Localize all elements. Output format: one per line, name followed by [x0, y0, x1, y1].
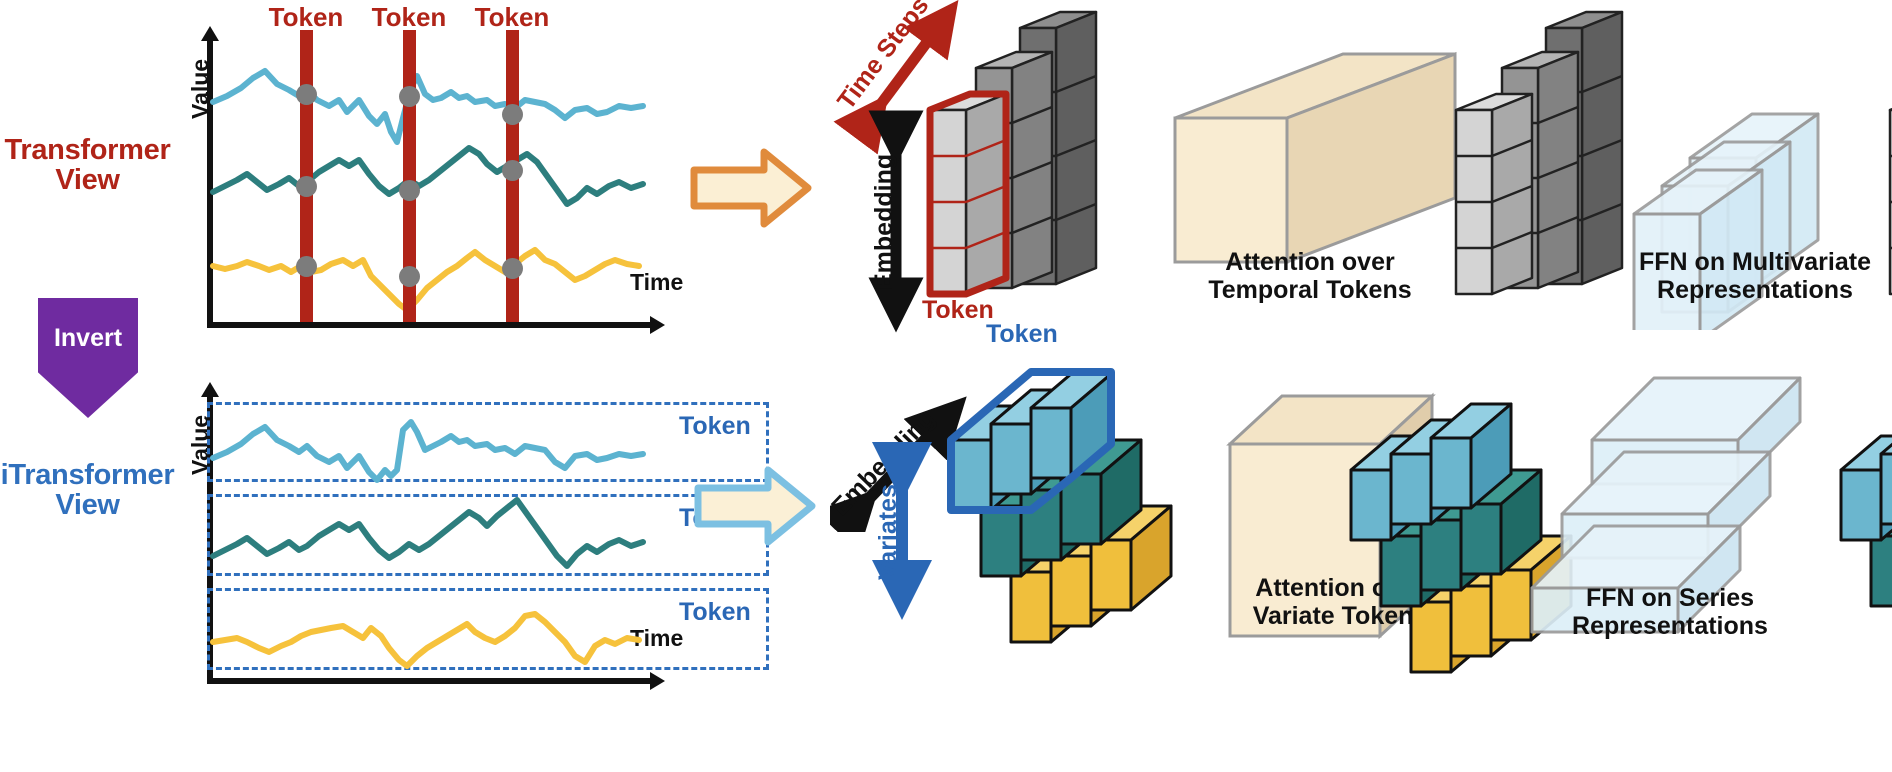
- transformer-pipeline: Time Steps Embedding: [830, 0, 1892, 340]
- invert-arrow: Invert: [38, 298, 138, 418]
- itransformer-view-line1: iTransformer: [0, 460, 175, 490]
- flow-arrow-bottom: [694, 466, 819, 546]
- ffn-multivariate-caption: FFN on Multivariate Representations: [1590, 248, 1892, 304]
- token-label-1: Token: [256, 2, 356, 33]
- transformer-view-line1: Transformer: [0, 135, 175, 165]
- ffn-series-line2: Representations: [1510, 612, 1830, 640]
- token-label-2: Token: [359, 2, 459, 33]
- token-dot-1-2: [296, 176, 317, 197]
- invert-arrow-shape: [38, 298, 138, 418]
- token-dot-1-1: [296, 84, 317, 105]
- series-line-variate-1: [213, 71, 643, 142]
- ffn-series-caption: FFN on Series Representations: [1510, 584, 1830, 640]
- itransformer-view-line2: View: [0, 490, 175, 520]
- token-dot-2-3: [399, 266, 420, 287]
- series-lines: [195, 370, 775, 770]
- token-label-3: Token: [462, 2, 562, 33]
- itransformer-pipeline: Embedding Variates Token: [830, 312, 1892, 772]
- series-line-variate-2: [213, 500, 643, 566]
- transformer-view-chart: Value Time Token Token Token: [195, 14, 695, 374]
- cube-stack-input: [900, 10, 1200, 330]
- flow-arrow-top: [690, 148, 815, 228]
- variates-label: Variates: [874, 484, 903, 580]
- ffn-multivariate-line2: Representations: [1590, 276, 1892, 304]
- series-line-variate-2: [213, 148, 643, 204]
- series-lines: [195, 14, 695, 374]
- attention-temporal-line2: Temporal Tokens: [1160, 276, 1460, 304]
- cube-stack-variates-output: [1815, 372, 1892, 702]
- transformer-view-label: Transformer View: [0, 135, 175, 196]
- token-dot-3-1: [502, 104, 523, 125]
- attention-temporal-caption: Attention over Temporal Tokens: [1160, 248, 1460, 304]
- token-dot-2-1: [399, 86, 420, 107]
- invert-arrow-label: Invert: [38, 324, 138, 353]
- embedding-label: Embedding: [870, 154, 899, 290]
- cube-stack-output: [1860, 10, 1892, 330]
- series-line-variate-3: [213, 250, 639, 310]
- token-dot-2-2: [399, 180, 420, 201]
- transformer-view-line2: View: [0, 165, 175, 195]
- ffn-multivariate-line1: FFN on Multivariate: [1590, 248, 1892, 276]
- series-line-variate-1: [213, 422, 643, 480]
- token-dot-3-2: [502, 160, 523, 181]
- series-line-variate-3: [213, 614, 639, 666]
- itransformer-view-label: iTransformer View: [0, 460, 175, 521]
- ffn-series-line1: FFN on Series: [1510, 584, 1830, 612]
- token-dot-1-3: [296, 256, 317, 277]
- token-dot-3-3: [502, 258, 523, 279]
- attention-temporal-line1: Attention over: [1160, 248, 1460, 276]
- itransformer-view-chart: Value Time Token Token Token: [195, 370, 775, 770]
